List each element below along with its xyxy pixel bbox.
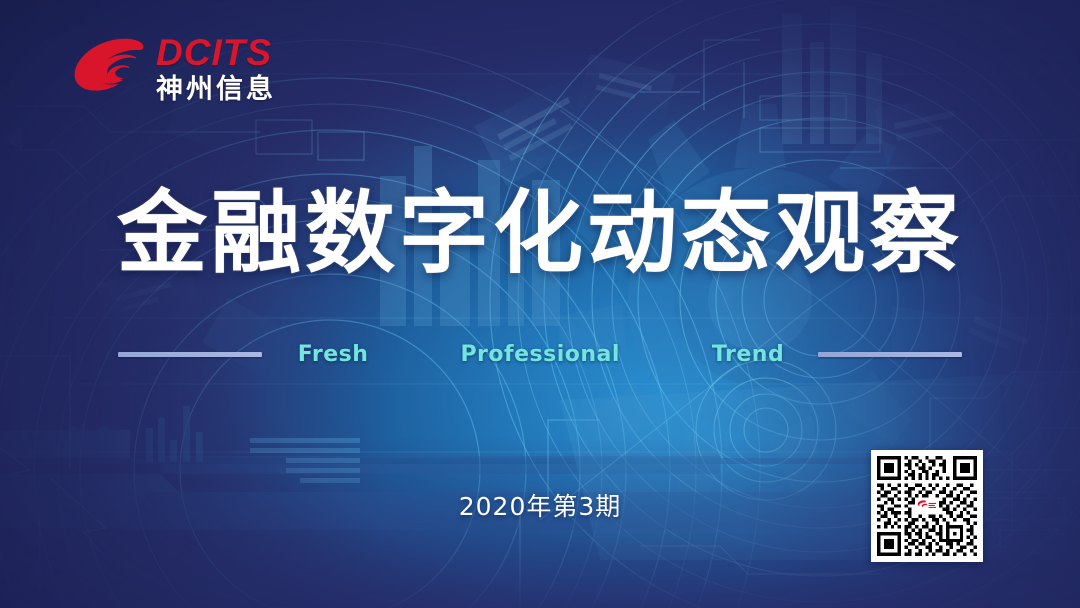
- brand-logo: DCITS 神州信息: [72, 34, 276, 103]
- tagline-rule-left: [118, 352, 262, 357]
- logo-english-name: DCITS: [156, 34, 276, 71]
- logo-chinese-name: 神州信息: [156, 76, 276, 103]
- wechat-qr-code[interactable]: [871, 450, 983, 562]
- tagline-item-trend: Trend: [712, 342, 784, 367]
- tagline-item-professional: Professional: [460, 342, 619, 367]
- tagline-row: Fresh Professional Trend: [0, 341, 1080, 367]
- slide-canvas: DCITS 神州信息 金融数字化动态观察 Fresh Professional …: [0, 0, 1080, 608]
- dcits-swoosh-icon: [72, 36, 146, 102]
- qr-center-logo-icon: [915, 498, 939, 515]
- tagline-item-fresh: Fresh: [298, 342, 369, 367]
- page-title: 金融数字化动态观察: [0, 186, 1080, 281]
- tagline-rule-right: [818, 352, 962, 357]
- logo-wordmark: DCITS 神州信息: [156, 34, 276, 103]
